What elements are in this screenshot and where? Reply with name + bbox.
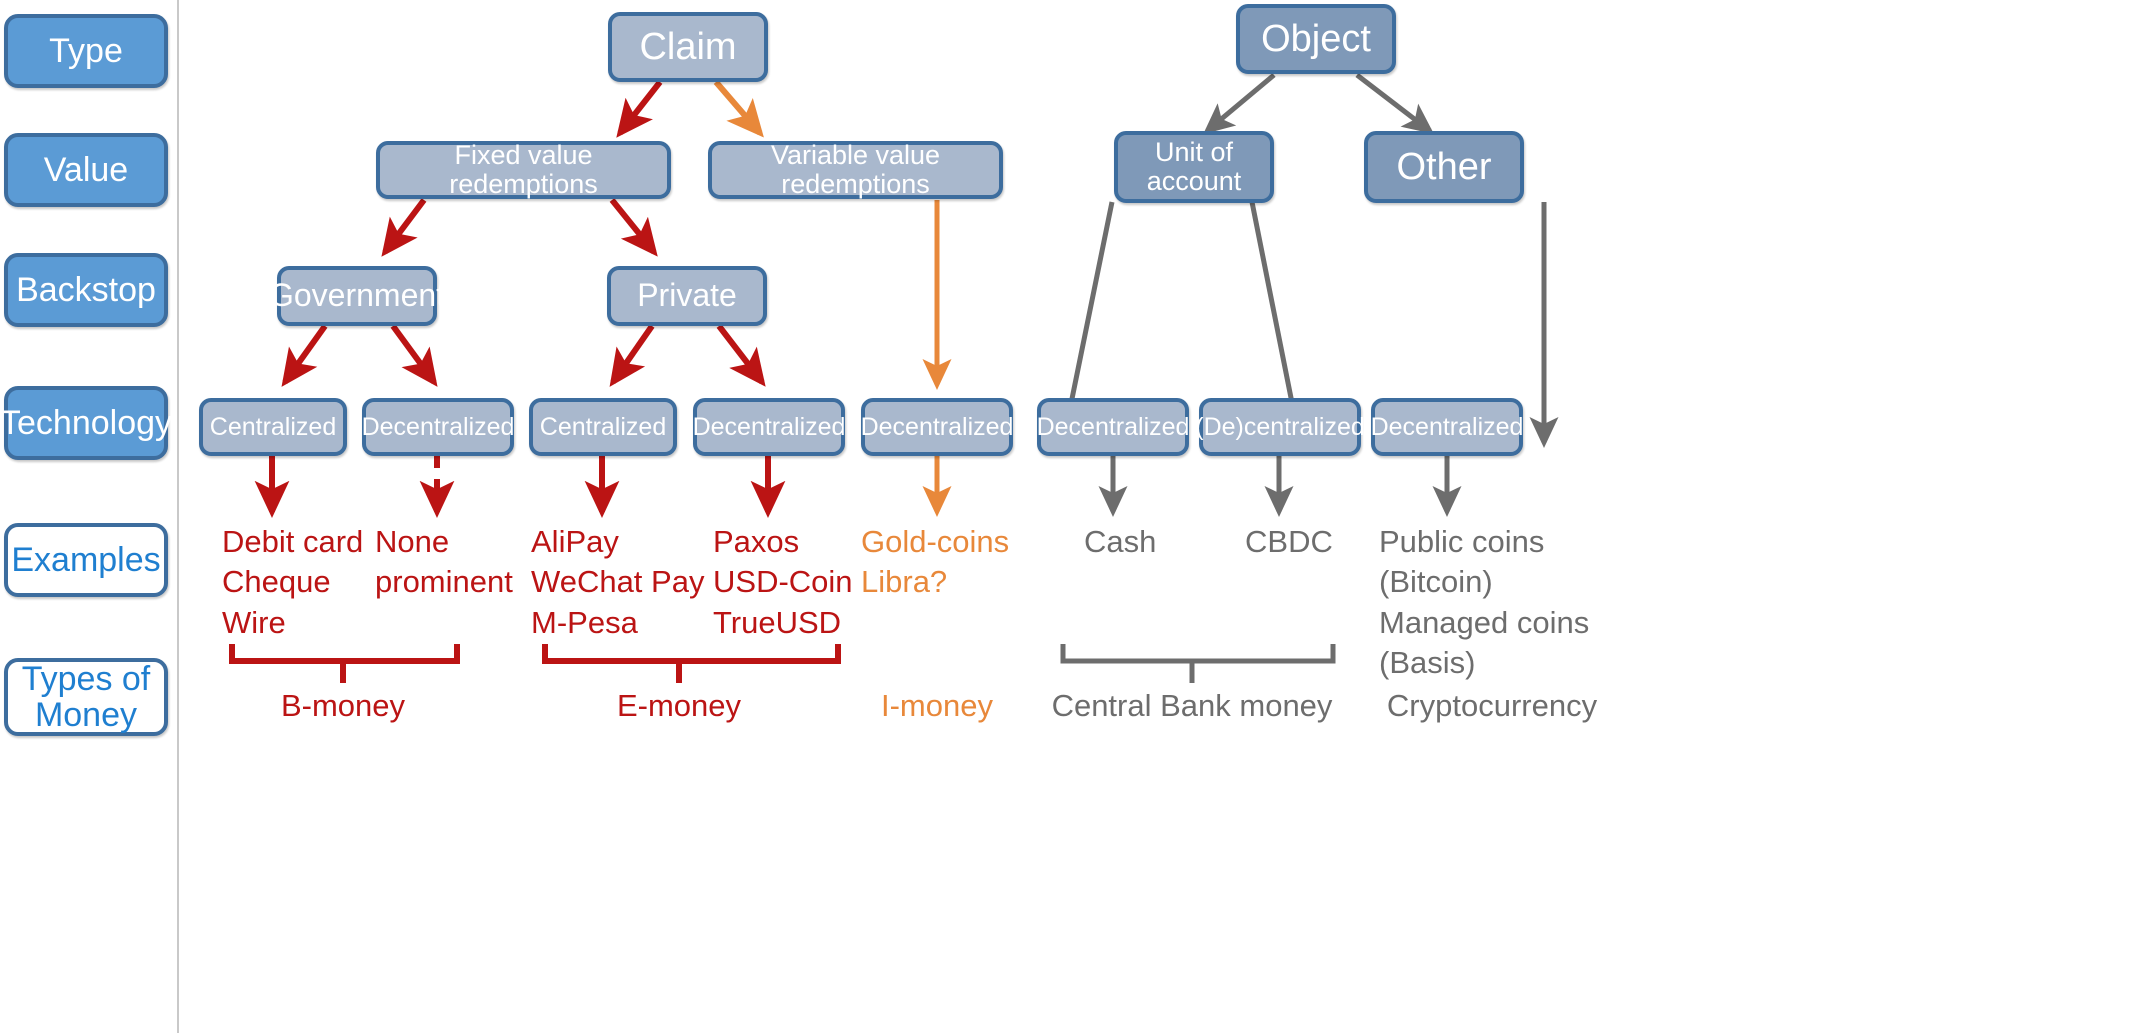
node-tech-variable-decentralized[interactable]: Decentralized: [861, 398, 1013, 456]
node-tech-gov-decentralized[interactable]: Decentralized: [362, 398, 514, 456]
example-cash: Cash: [1084, 522, 1244, 562]
node-fixed-value-redemptions-label: Fixed value redemptions: [386, 141, 661, 198]
types-of-money-b-money: B-money: [253, 686, 433, 726]
node-tech-uoa-de-centralized-label: (De)centralized: [1195, 414, 1365, 441]
arrow-private-to-centralized: [613, 326, 652, 382]
row-label-backstop[interactable]: Backstop: [4, 253, 168, 327]
node-private-label: Private: [637, 279, 737, 313]
node-tech-variable-decentralized-label: Decentralized: [861, 414, 1014, 441]
node-tech-uoa-decentralized[interactable]: Decentralized: [1037, 398, 1189, 456]
arrow-fixed-to-government: [385, 200, 424, 252]
node-private[interactable]: Private: [607, 266, 767, 326]
node-tech-priv-decentralized[interactable]: Decentralized: [693, 398, 845, 456]
row-label-type[interactable]: Type: [4, 14, 168, 88]
node-tech-uoa-decentralized-label: Decentralized: [1037, 414, 1190, 441]
node-claim-label: Claim: [639, 27, 736, 67]
connector-layer: [0, 0, 2145, 1033]
node-tech-priv-centralized[interactable]: Centralized: [529, 398, 677, 456]
sidebar-divider: [177, 0, 179, 1033]
row-label-examples[interactable]: Examples: [4, 523, 168, 597]
node-tech-gov-centralized[interactable]: Centralized: [199, 398, 347, 456]
arrow-government-to-decentralized: [393, 326, 434, 382]
node-unit-of-account[interactable]: Unit of account: [1114, 131, 1274, 203]
node-object-label: Object: [1261, 19, 1371, 59]
types-of-money-e-money: E-money: [589, 686, 769, 726]
arrow-private-to-decentralized: [719, 326, 762, 382]
row-label-value-text: Value: [44, 152, 128, 188]
arrow-claim-to-fixed: [620, 82, 660, 133]
arrow-government-to-centralized: [285, 326, 325, 382]
node-claim[interactable]: Claim: [608, 12, 768, 82]
node-tech-gov-decentralized-label: Decentralized: [362, 414, 515, 441]
node-tech-other-decentralized-label: Decentralized: [1371, 414, 1524, 441]
node-other-label: Other: [1396, 147, 1491, 187]
node-variable-value-redemptions[interactable]: Variable value redemptions: [708, 141, 1003, 199]
arrow-fixed-to-private: [612, 200, 654, 252]
node-tech-priv-centralized-label: Centralized: [540, 414, 666, 441]
row-label-types-of-money-text: Types of Money: [22, 661, 151, 733]
types-of-money-i-money: I-money: [847, 686, 1027, 726]
arrow-claim-to-variable: [716, 82, 760, 133]
brace-b-money: [232, 644, 457, 683]
node-tech-uoa-de-centralized[interactable]: (De)centralized: [1199, 398, 1361, 456]
row-label-technology-text: Technology: [0, 405, 172, 441]
example-public-coins: Public coins (Bitcoin) Managed coins (Ba…: [1379, 522, 1639, 683]
arrow-object-to-other: [1357, 75, 1430, 131]
row-label-examples-text: Examples: [11, 542, 160, 578]
node-other[interactable]: Other: [1364, 131, 1524, 203]
node-government-label: Government: [269, 279, 445, 313]
node-variable-value-redemptions-label: Variable value redemptions: [718, 141, 993, 198]
example-gold-coins: Gold-coins Libra?: [861, 522, 1061, 603]
row-label-type-text: Type: [49, 33, 123, 69]
row-label-backstop-text: Backstop: [16, 272, 156, 308]
node-tech-gov-centralized-label: Centralized: [210, 414, 336, 441]
node-fixed-value-redemptions[interactable]: Fixed value redemptions: [376, 141, 671, 199]
diagram-canvas: Type Value Backstop Technology Examples …: [0, 0, 2145, 1033]
row-label-types-of-money[interactable]: Types of Money: [4, 658, 168, 736]
brace-central-bank-money: [1063, 644, 1333, 683]
arrow-object-to-unit-of-account: [1207, 75, 1274, 131]
row-label-technology[interactable]: Technology: [4, 386, 168, 460]
node-government[interactable]: Government: [277, 266, 437, 326]
types-of-money-central-bank-money: Central Bank money: [1047, 686, 1337, 726]
node-tech-priv-decentralized-label: Decentralized: [693, 414, 846, 441]
node-unit-of-account-label: Unit of account: [1147, 138, 1242, 195]
brace-e-money: [545, 644, 838, 683]
types-of-money-cryptocurrency: Cryptocurrency: [1362, 686, 1622, 726]
node-object[interactable]: Object: [1236, 4, 1396, 74]
node-tech-other-decentralized[interactable]: Decentralized: [1371, 398, 1523, 456]
row-label-value[interactable]: Value: [4, 133, 168, 207]
